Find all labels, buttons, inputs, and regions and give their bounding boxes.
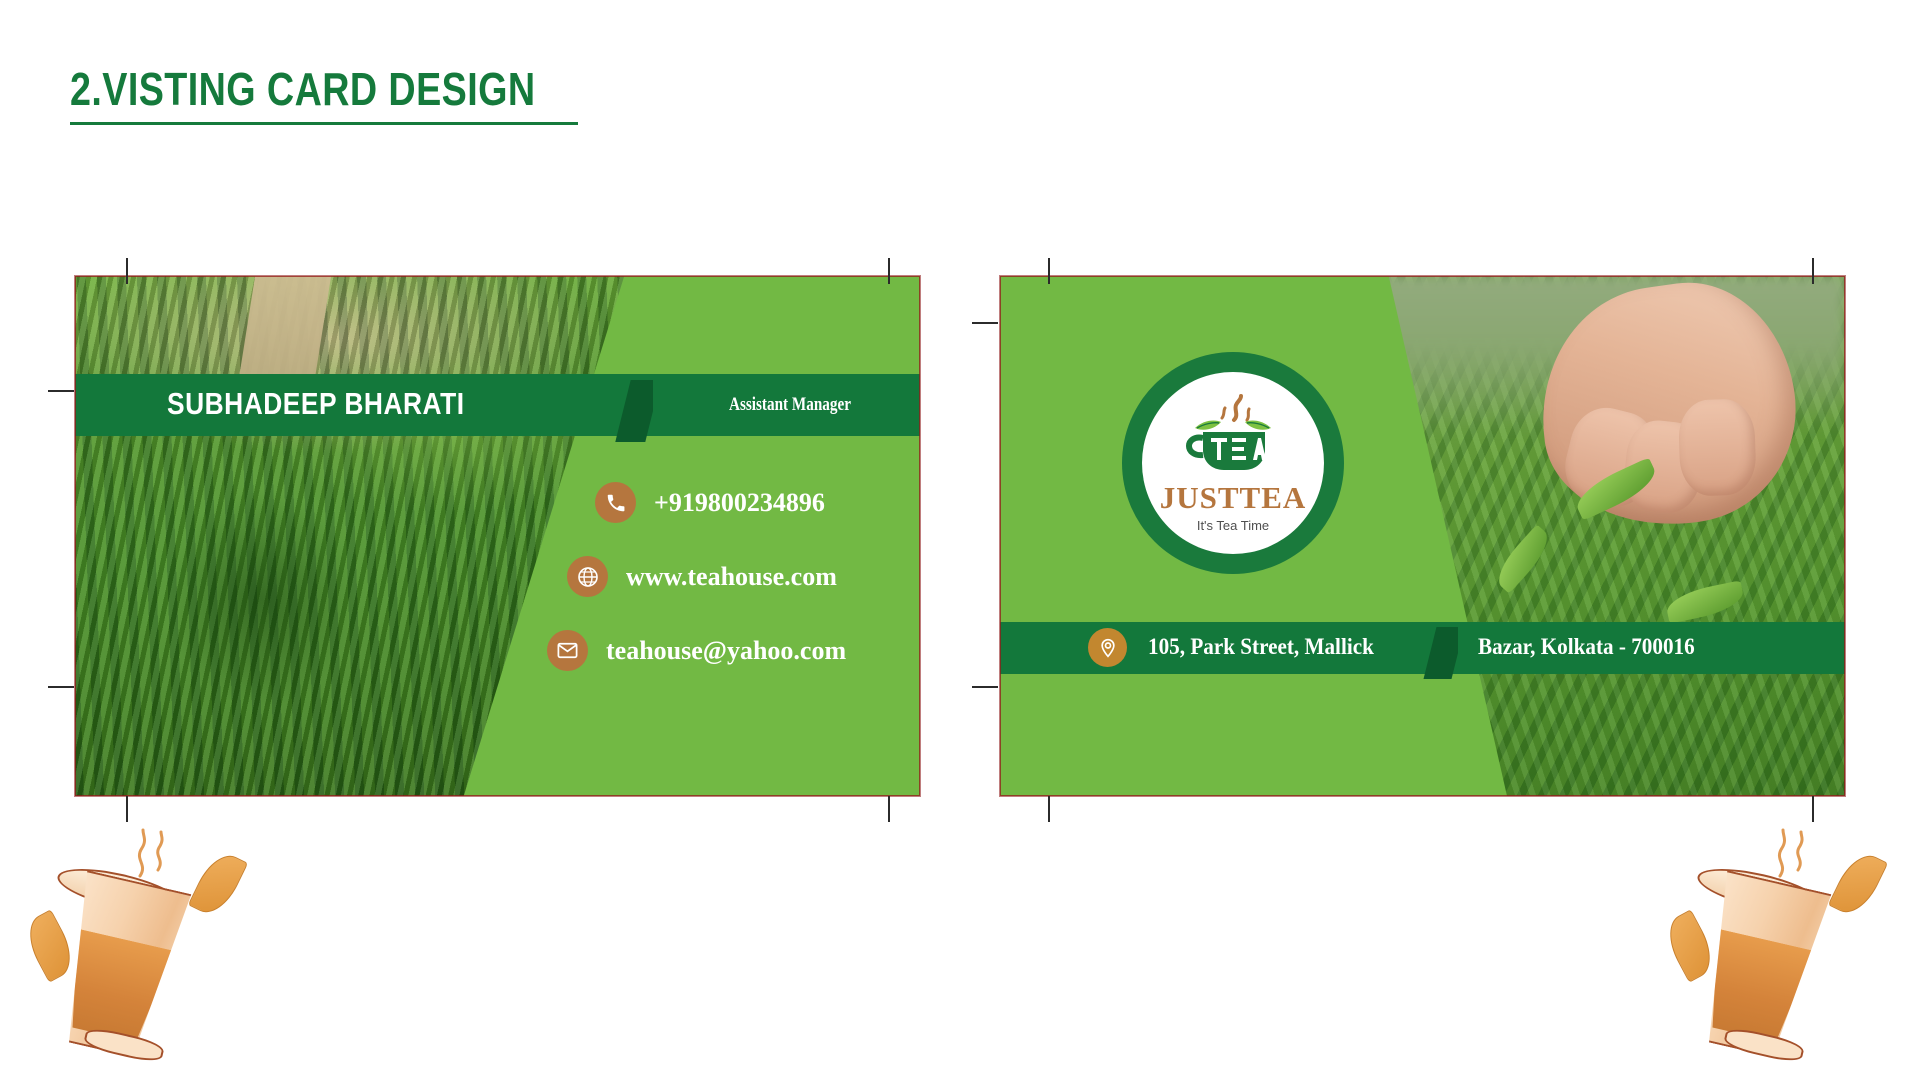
business-card-front[interactable]: SUBHADEEP BHARATI Assistant Manager +919… <box>75 276 920 796</box>
decorative-leaf <box>19 909 81 982</box>
chai-glass-left <box>28 818 258 1068</box>
page-title: 2.VISTING CARD DESIGN <box>70 62 536 116</box>
teacup-logo-mark <box>1177 394 1289 476</box>
address-band: 105, Park Street, Mallick Bazar, Kolkata… <box>1000 622 1845 674</box>
name-band: SUBHADEEP BHARATI Assistant Manager <box>75 374 920 436</box>
crop-mark <box>1048 796 1050 822</box>
decorative-leaf <box>188 847 248 920</box>
website-url: www.teahouse.com <box>626 562 837 592</box>
contact-row-email[interactable]: teahouse@yahoo.com <box>547 630 846 671</box>
crop-mark <box>888 796 890 822</box>
contact-list: +919800234896 www.teahouse.com <box>595 482 846 671</box>
crop-mark <box>1048 258 1050 284</box>
decorative-leaf <box>1828 847 1888 920</box>
phone-number: +919800234896 <box>654 488 825 518</box>
phone-icon <box>595 482 636 523</box>
crop-mark <box>48 686 74 688</box>
email-icon <box>547 630 588 671</box>
crop-mark <box>1812 258 1814 284</box>
contact-row-website[interactable]: www.teahouse.com <box>567 556 846 597</box>
crop-mark <box>126 258 128 284</box>
person-name: SUBHADEEP BHARATI <box>167 386 465 422</box>
crop-mark <box>888 258 890 284</box>
chai-glass-right <box>1668 818 1898 1068</box>
address-line-2: Bazar, Kolkata - 700016 <box>1478 634 1695 660</box>
crop-mark <box>972 322 998 324</box>
crop-mark <box>972 686 998 688</box>
email-address: teahouse@yahoo.com <box>606 636 846 666</box>
page-title-underline <box>70 122 578 125</box>
location-pin-icon <box>1088 628 1127 667</box>
address-line-1: 105, Park Street, Mallick <box>1148 634 1374 660</box>
crop-mark <box>48 390 74 392</box>
logo-tagline: It's Tea Time <box>1197 519 1269 532</box>
globe-icon <box>567 556 608 597</box>
contact-row-phone[interactable]: +919800234896 <box>595 482 846 523</box>
business-card-back[interactable]: JUSTTEA It's Tea Time 105, Park Street, … <box>1000 276 1845 796</box>
logo-brand-name: JUSTTEA <box>1160 482 1307 513</box>
company-logo: JUSTTEA It's Tea Time <box>1122 352 1344 574</box>
job-title: Assistant Manager <box>698 394 882 416</box>
decorative-leaf <box>1659 909 1721 982</box>
